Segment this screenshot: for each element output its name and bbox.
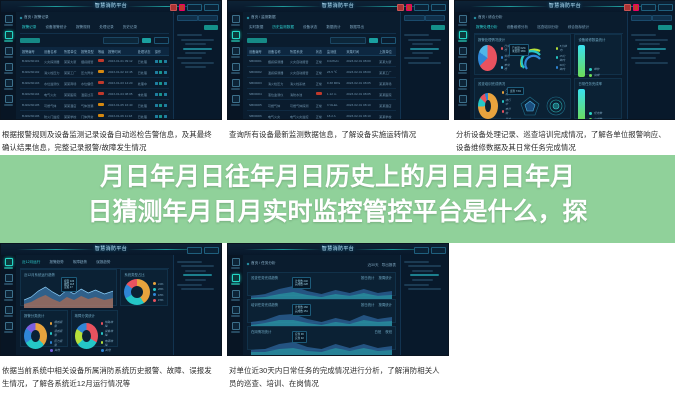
panel-action[interactable]: 按日统计	[361, 302, 375, 307]
topbar-controls[interactable]	[414, 247, 446, 254]
panel-action[interactable]: 白班	[374, 329, 381, 334]
search-button[interactable]	[142, 38, 151, 43]
donut-legend: 烟感报警 温感报警 压力报警 其他	[50, 320, 64, 353]
reset-button[interactable]	[154, 37, 169, 44]
datetime-chip	[187, 247, 202, 254]
tree-node-selected[interactable]	[183, 274, 212, 276]
screenshot-row-bottom: 智慧消防平台 近12月运行 报警趋势	[0, 243, 675, 400]
tab-1[interactable]: 设备报警统计	[45, 25, 67, 30]
tab-bar[interactable]: 实时数据 历史监测数据 设备状态 数据统计 数据导出	[247, 23, 396, 34]
cell: 消火栓压力	[42, 67, 62, 78]
cell: BJ20230106	[20, 111, 42, 120]
topbar-controls[interactable]	[624, 4, 673, 11]
tree-node[interactable]	[404, 284, 429, 286]
cell: 已处理	[136, 100, 153, 111]
tree-action-button[interactable]	[658, 25, 672, 30]
left-nav[interactable]	[455, 12, 471, 119]
tree-node[interactable]	[181, 288, 214, 290]
nav-item-device[interactable]	[3, 290, 14, 301]
tree-node[interactable]	[408, 62, 441, 64]
alert-indicator-icon	[397, 4, 404, 11]
legend-label: 电源故障	[105, 339, 115, 347]
table-row[interactable]: SB00006 电气火灾 电气火灾监控 正常 18.2 A 2023-02-01…	[247, 111, 396, 120]
tooltip-line: 完成数 151	[295, 310, 308, 313]
tree-node[interactable]	[412, 52, 433, 54]
tooltip-line: 巡查 74%	[510, 90, 521, 93]
breadcrumb: 首页 / 任务分析	[247, 261, 276, 266]
export-button[interactable]: 导出报表	[382, 263, 396, 268]
panel-fault-category: 故障分类统计 线路故障 设备故障 电源故障 其他	[71, 310, 119, 347]
tab-3[interactable]: 误报趋势	[96, 260, 110, 265]
card-caption: 分析设备处理记录、巡查培训完成情况，了解各单位报警响应、设备维修数据及其日常任务…	[454, 129, 675, 154]
left-nav[interactable]	[1, 12, 17, 119]
panel-alarm-handling: 报警处理情况统计 已处理 处理中 未处理	[474, 34, 571, 75]
right-tree-panel[interactable]	[400, 12, 448, 119]
nav-item-report[interactable]	[457, 79, 468, 90]
area-chart	[251, 281, 392, 293]
datetime-chip	[414, 247, 429, 254]
alarm-table: 报警编号 设备名称 所属单位 报警类型 等级 报警时间 处理状态 操作 BJ20…	[20, 47, 169, 119]
nav-item-home[interactable]	[230, 15, 241, 26]
nav-item-device[interactable]	[230, 47, 241, 58]
tab-0[interactable]: 实时数据	[249, 25, 263, 30]
tab-0[interactable]: 近12月运行	[22, 260, 40, 265]
cell: 可燃气体	[42, 100, 62, 111]
reset-button[interactable]	[381, 37, 396, 44]
table-row[interactable]: SB00002 温感探测器 火灾自动报警 正常 26.5 ℃ 2023-02-0…	[247, 67, 396, 78]
col-1: 设备名称	[42, 47, 62, 56]
cell: 液位监测仪	[266, 89, 288, 100]
tree-node[interactable]	[408, 265, 441, 267]
status-badge	[314, 89, 325, 100]
tab-4[interactable]: 数据导出	[350, 25, 364, 30]
nav-item-report[interactable]	[230, 79, 241, 90]
cell: 某某酒店	[377, 100, 396, 111]
tab-2[interactable]: 故障趋势	[73, 260, 87, 265]
tree-node[interactable]	[177, 57, 202, 59]
tree-node[interactable]	[412, 43, 433, 45]
cell: 正常	[314, 67, 325, 78]
dashboard-screenshot[interactable]: 智慧消防平台 首	[227, 243, 449, 356]
bar-chart	[578, 45, 585, 77]
cell: 可燃气体	[266, 100, 288, 111]
nav-item-analysis[interactable]	[3, 258, 14, 269]
user-chip[interactable]	[658, 4, 673, 11]
search-button[interactable]	[369, 38, 378, 43]
table-row[interactable]: SB00005 可燃气体 可燃气体探测 正常 3 %LEL 2023-02-01…	[247, 100, 396, 111]
cell: 消火栓压力	[266, 78, 288, 89]
right-tree-panel[interactable]	[400, 255, 448, 355]
nav-item-home[interactable]	[457, 15, 468, 26]
panel-alarm-category: 报警分类统计 烟感报警 温感报警 压力报警 其他	[20, 310, 68, 347]
user-chip[interactable]	[204, 247, 219, 254]
panel-title: 系统类型占比	[124, 272, 164, 277]
tree-node[interactable]	[635, 62, 668, 64]
tree-node[interactable]	[639, 43, 660, 45]
tree-node[interactable]	[635, 39, 668, 41]
toolbar[interactable]	[20, 37, 169, 44]
nav-item-task[interactable]	[230, 63, 241, 74]
cell: 2023-02-01 08:00	[344, 56, 377, 67]
tree-node[interactable]	[631, 57, 656, 59]
table-row[interactable]: BJ20230105 可燃气体 某某酒店 气体泄漏 2023-01-05 16:…	[20, 100, 169, 111]
cell: 某某商场	[62, 78, 79, 89]
alert-indicator2-icon	[633, 4, 639, 11]
tree-node[interactable]	[408, 39, 441, 41]
alert-indicator2-icon	[179, 4, 185, 11]
breadcrumb: 首页 / 监测数据	[247, 15, 396, 20]
cell: 烟感报警	[79, 56, 96, 67]
area-chart	[251, 308, 392, 320]
alert-indicator2-icon	[406, 4, 412, 11]
breadcrumb-text: 首页 / 监测数据	[251, 15, 276, 20]
tree-filter-row[interactable]	[177, 15, 218, 21]
nav-item-task[interactable]	[230, 274, 241, 285]
donut-chart	[75, 323, 98, 349]
legend-label: 压力报警	[54, 339, 64, 347]
left-nav[interactable]	[1, 255, 17, 355]
legend-label: 温感报警	[54, 329, 64, 337]
table-row[interactable]: BJ20230106 防火门监控 某某学校 门体异常 2023-01-06 11…	[20, 111, 169, 120]
topbar-controls[interactable]	[397, 4, 446, 11]
cell: 火灾自动报警	[288, 67, 314, 78]
col-2: 所属单位	[62, 47, 79, 56]
row-actions[interactable]	[153, 89, 169, 100]
panel-title: 日常任务完成率	[578, 81, 618, 86]
cell: 2023-01-05 16:40	[106, 100, 136, 111]
tree-node[interactable]	[185, 270, 206, 272]
right-tree-panel[interactable]	[173, 12, 221, 119]
cell: 门体异常	[79, 111, 96, 120]
cell: 2023-02-01 08:00	[344, 67, 377, 78]
user-chip[interactable]	[431, 247, 446, 254]
tree-action-button[interactable]	[431, 25, 445, 30]
card-caption: 对单位近30天内日常任务的完成情况进行分析，了解消防相关人员的巡查、培训、在岗情…	[227, 365, 449, 390]
tree-node[interactable]	[185, 279, 206, 281]
severity-badge	[96, 78, 106, 89]
headline-line-2: 日猜测年月日月实时监控管控平台是什么，探	[0, 195, 675, 230]
breadcrumb-text: 首页 / 报警记录	[24, 15, 49, 20]
tab-bar[interactable]: 近12月运行 报警趋势 故障趋势 误报趋势	[20, 258, 169, 269]
panel-training-trend: 培训任务完成趋势 按日统计 按周统计	[247, 299, 396, 323]
cell: 火灾探测器	[42, 56, 62, 67]
legend-label: 其他	[54, 348, 60, 352]
panel-action[interactable]: 夜班	[385, 329, 392, 334]
cell: 可燃气体探测	[288, 100, 314, 111]
nav-item-alarm[interactable]	[3, 31, 14, 42]
legend-label: 完成	[594, 73, 600, 77]
breadcrumb: 首页 / 综合分析	[474, 15, 623, 20]
tree-node-selected[interactable]	[637, 48, 666, 50]
cell: 电气火灾监控	[288, 111, 314, 120]
card-empty-slot	[454, 243, 675, 400]
tree-node[interactable]	[404, 57, 429, 59]
dashboard-screenshot[interactable]: 智慧消防平台	[227, 0, 449, 120]
tree-filter-row[interactable]	[404, 15, 445, 21]
tab-2[interactable]: 设备状态	[303, 25, 317, 30]
donut-chart	[478, 93, 498, 119]
tree-filter-row[interactable]	[631, 15, 672, 21]
tab-1[interactable]: 设备维修分析	[507, 25, 529, 30]
panel-title: 在岗情况统计	[251, 329, 271, 334]
tab-2[interactable]: 报警规则	[76, 25, 90, 30]
cell: 3 %LEL	[325, 100, 344, 111]
dashboard-screenshot[interactable]: 智慧消防平台	[0, 0, 222, 120]
cell: 某某工厂	[62, 67, 79, 78]
tree-node[interactable]	[639, 52, 660, 54]
left-nav[interactable]	[228, 255, 244, 355]
tree-node-selected[interactable]	[183, 48, 212, 50]
cell: 2023-02-01 08:05	[344, 89, 377, 100]
panel-action[interactable]: 按日统计	[361, 275, 375, 280]
refresh-button[interactable]	[247, 38, 267, 43]
filter-pill2[interactable]	[198, 15, 219, 21]
table-row[interactable]: SB00001 烟感探测器 火灾自动报警 正常 0.02%/m 2023-02-…	[247, 56, 396, 67]
tab-0[interactable]: 报警记录	[22, 25, 36, 30]
tab-bar[interactable]: 报警处理分析 设备维修分析 巡查培训分析 综合指标统计	[474, 23, 623, 34]
panel-title: 巡查培训完成情况	[478, 81, 567, 86]
panel-patrol-trend: 巡查任务完成趋势 按日统计 按周统计	[247, 272, 396, 296]
nav-item-report[interactable]	[3, 322, 14, 333]
infographic-page: 智慧消防平台	[0, 0, 675, 400]
cell: 某某商场	[377, 78, 396, 89]
tree-node[interactable]	[408, 288, 441, 290]
search-input[interactable]	[330, 37, 366, 44]
cell: BJ20230104	[20, 89, 42, 100]
cell: BJ20230103	[20, 78, 42, 89]
cell: BJ20230105	[20, 100, 42, 111]
tooltip-line: 未处理 38%	[512, 50, 526, 53]
nav-item-device[interactable]	[3, 47, 14, 58]
tab-bar[interactable]: 报警记录 设备报警统计 报警规则 处理记录 历史记录	[20, 23, 169, 34]
tree-node[interactable]	[412, 279, 433, 281]
tree-node[interactable]	[404, 34, 429, 36]
cell: 消防水池	[288, 89, 314, 100]
col-4: 监测值	[325, 47, 344, 56]
row-actions[interactable]	[153, 100, 169, 111]
severity-badge	[96, 89, 106, 100]
cell: 温感探测器	[266, 67, 288, 78]
tab-3[interactable]: 综合指标统计	[568, 25, 590, 30]
table-row[interactable]: BJ20230104 电气火灾 某某医院 温度过高 2023-01-04 08:…	[20, 89, 169, 100]
cell: 压力异常	[79, 67, 96, 78]
legend-label: 已逾期	[505, 117, 511, 119]
panel-action[interactable]: 按周统计	[378, 302, 392, 307]
col-5: 采集时间	[344, 47, 377, 56]
bar-legend: 维修 完成	[589, 67, 599, 77]
tab-1[interactable]: 报警趋势	[49, 260, 63, 265]
severity-badge	[96, 100, 106, 111]
cell: 某某学校	[62, 111, 79, 120]
tree-node[interactable]	[177, 261, 202, 263]
panel-title: 故障分类统计	[75, 313, 115, 318]
panel-task-rate: 日常任务完成率 任务数 完成数	[574, 78, 622, 119]
cell: 正常	[314, 111, 325, 120]
tree-node[interactable]	[181, 62, 214, 64]
table-row[interactable]: BJ20230102 消火栓压力 某某工厂 压力异常 2023-01-02 10…	[20, 67, 169, 78]
table-row[interactable]: SB00003 消火栓压力 消火栓系统 正常 0.38 MPa 2023-02-…	[247, 78, 396, 89]
cell: 某某医院	[62, 89, 79, 100]
tab-2[interactable]: 巡查培训分析	[537, 25, 559, 30]
legend-label: 任务数	[594, 111, 602, 115]
card-caption: 依据当前系统中相关设备所属消防系统历史报警、故障、误报发生情况，了解各系统近12…	[0, 365, 222, 390]
app-title: 智慧消防平台	[95, 245, 127, 252]
nav-item-home[interactable]	[3, 15, 14, 26]
cell: 温度过高	[79, 89, 96, 100]
topbar-deco-left	[471, 6, 549, 7]
chart-tooltip: 计划数 240 完成数 228	[292, 277, 311, 289]
dashboard-screenshot[interactable]: 智慧消防平台	[454, 0, 675, 120]
cell: 2023-01-06 11:18	[106, 111, 136, 120]
tree-node[interactable]	[181, 265, 214, 267]
donut-legend: 41% 26% 18% 15%	[153, 282, 163, 303]
cell: 防火门监控	[42, 111, 62, 120]
cell: 1.12 m	[325, 89, 344, 100]
tree-node[interactable]	[181, 39, 214, 41]
tab-0[interactable]: 报警处理分析	[476, 25, 498, 30]
monitor-table: 设备编号 设备名称 所属系统 状态 监测值 采集时间 上报单位 SB00001 …	[247, 47, 396, 119]
cell: 正常	[314, 100, 325, 111]
cell: 某某学校	[377, 111, 396, 120]
nav-item-task[interactable]	[3, 63, 14, 74]
tree-node[interactable]	[631, 34, 656, 36]
cell: 水位偏低	[79, 78, 96, 89]
severity-badge	[96, 67, 106, 78]
nav-item-device[interactable]	[457, 47, 468, 58]
table-header-row: 设备编号 设备名称 所属系统 状态 监测值 采集时间 上报单位	[247, 47, 396, 56]
tree-node[interactable]	[185, 52, 206, 54]
filter-pill[interactable]	[404, 15, 425, 21]
col-4: 等级	[96, 47, 106, 56]
chart-tooltip: 应到 96 实到 92	[292, 331, 307, 343]
datetime-chip	[187, 4, 202, 11]
filter-pill2[interactable]	[652, 15, 673, 21]
cell: 火灾自动报警	[288, 56, 314, 67]
tree-action-button[interactable]	[204, 25, 218, 30]
tree-node[interactable]	[404, 261, 429, 263]
col-6: 上报单位	[377, 47, 396, 56]
cell: 烟感探测器	[266, 56, 288, 67]
nav-item-report[interactable]	[3, 79, 14, 90]
alert-indicator-icon	[624, 4, 631, 11]
table-row[interactable]: SB00004 液位监测仪 消防水池 1.12 m 2023-02-01 08:…	[247, 89, 396, 100]
bar-legend: 任务数 完成数	[589, 111, 602, 119]
donut-legend: 线路故障 设备故障 电源故障 其他	[101, 320, 115, 353]
donut-chart	[24, 323, 47, 349]
tab-3[interactable]: 数据统计	[326, 25, 340, 30]
cell: 2023-01-01 09:12	[106, 56, 136, 67]
topbar-controls[interactable]	[187, 247, 219, 254]
row-actions[interactable]	[153, 111, 169, 120]
topbar-deco-left	[17, 249, 95, 250]
filter-pill[interactable]	[177, 15, 198, 21]
breadcrumb-text: 首页 / 综合分析	[478, 15, 503, 20]
topbar-controls[interactable]	[170, 4, 219, 11]
tab-3[interactable]: 处理记录	[99, 25, 113, 30]
datetime-chip	[641, 4, 656, 11]
tab-1[interactable]: 历史监测数据	[272, 25, 294, 30]
chart-panels: 近12月系统运行趋势 报警 326 故障 118	[20, 269, 169, 347]
nav-item-device[interactable]	[230, 290, 241, 301]
tree-node-selected[interactable]	[410, 48, 439, 50]
tree-node[interactable]	[177, 34, 202, 36]
col-6: 处理状态	[136, 47, 153, 56]
nav-item-monitor[interactable]	[230, 31, 241, 42]
cell: 正常	[314, 78, 325, 89]
toolbar[interactable]: 首页 / 任务分析 近30天 导出报表	[247, 261, 396, 269]
nav-item-analysis[interactable]	[457, 31, 468, 42]
nav-item-task[interactable]	[3, 306, 14, 317]
nav-item-alarm[interactable]	[3, 274, 14, 285]
card-task-analysis: 智慧消防平台 首	[227, 243, 449, 400]
tree-node[interactable]	[185, 66, 206, 68]
legend-label: 线路故障	[105, 320, 115, 328]
nav-item-home[interactable]	[230, 258, 241, 269]
legend-label: 完成数	[594, 117, 602, 119]
range-filter[interactable]: 近30天	[367, 263, 378, 268]
legend-label: 15分钟内	[559, 54, 567, 62]
breadcrumb-text: 首页 / 任务分析	[251, 261, 276, 266]
nav-item-settings[interactable]	[230, 322, 241, 333]
cell: 消火栓系统	[288, 78, 314, 89]
row-actions[interactable]	[153, 67, 169, 78]
cell: 水位监测仪	[42, 78, 62, 89]
toolbar[interactable]	[247, 37, 396, 44]
tree-node-selected[interactable]	[410, 274, 439, 276]
nav-item-settings[interactable]	[3, 95, 14, 106]
cell: 某某工厂	[377, 67, 396, 78]
col-3: 报警类型	[79, 47, 96, 56]
dashboard-screenshot[interactable]: 智慧消防平台 近12月运行 报警趋势	[0, 243, 222, 356]
search-input[interactable]	[103, 37, 139, 44]
legend-value: 41%	[158, 282, 164, 286]
cell: SB00004	[247, 89, 266, 100]
right-tree-panel[interactable]	[627, 12, 675, 119]
left-nav[interactable]	[228, 12, 244, 119]
cell: 电气火灾	[266, 111, 288, 120]
filter-pill2[interactable]	[425, 15, 446, 21]
nav-item-settings[interactable]	[457, 95, 468, 106]
tree-node[interactable]	[412, 270, 433, 272]
user-chip[interactable]	[431, 4, 446, 11]
table-row[interactable]: BJ20230103 水位监测仪 某某商场 水位偏低 2023-01-03 14…	[20, 78, 169, 89]
severity-badge	[96, 111, 106, 120]
cell: 已处理	[136, 111, 153, 120]
add-button[interactable]	[20, 38, 40, 43]
nav-item-report[interactable]	[230, 306, 241, 317]
tree-node[interactable]	[177, 284, 202, 286]
cell: 某某大厦	[62, 56, 79, 67]
filter-pill[interactable]	[631, 15, 652, 21]
tooltip-line: 误报 47	[64, 286, 73, 289]
panel-action[interactable]: 按周统计	[378, 275, 392, 280]
row-actions[interactable]	[153, 56, 169, 67]
user-chip[interactable]	[204, 4, 219, 11]
row-actions[interactable]	[153, 78, 169, 89]
cell: 2023-01-02 10:45	[106, 67, 136, 78]
nav-item-task[interactable]	[457, 63, 468, 74]
cell: 2023-01-04 08:05	[106, 89, 136, 100]
right-tree-panel[interactable]	[173, 255, 221, 355]
cell: 2023-01-03 14:20	[106, 78, 136, 89]
tree-node[interactable]	[185, 43, 206, 45]
tab-4[interactable]: 历史记录	[123, 25, 137, 30]
panel-patrol-training: 巡查培训完成情况 已完成 进行中 未开始 已逾期	[474, 78, 571, 119]
nav-item-settings[interactable]	[230, 95, 241, 106]
table-row[interactable]: BJ20230101 火灾探测器 某某大厦 烟感报警 2023-01-01 09…	[20, 56, 169, 67]
legend-label: 设备故障	[105, 329, 115, 337]
breadcrumb-marker-icon	[474, 16, 477, 19]
